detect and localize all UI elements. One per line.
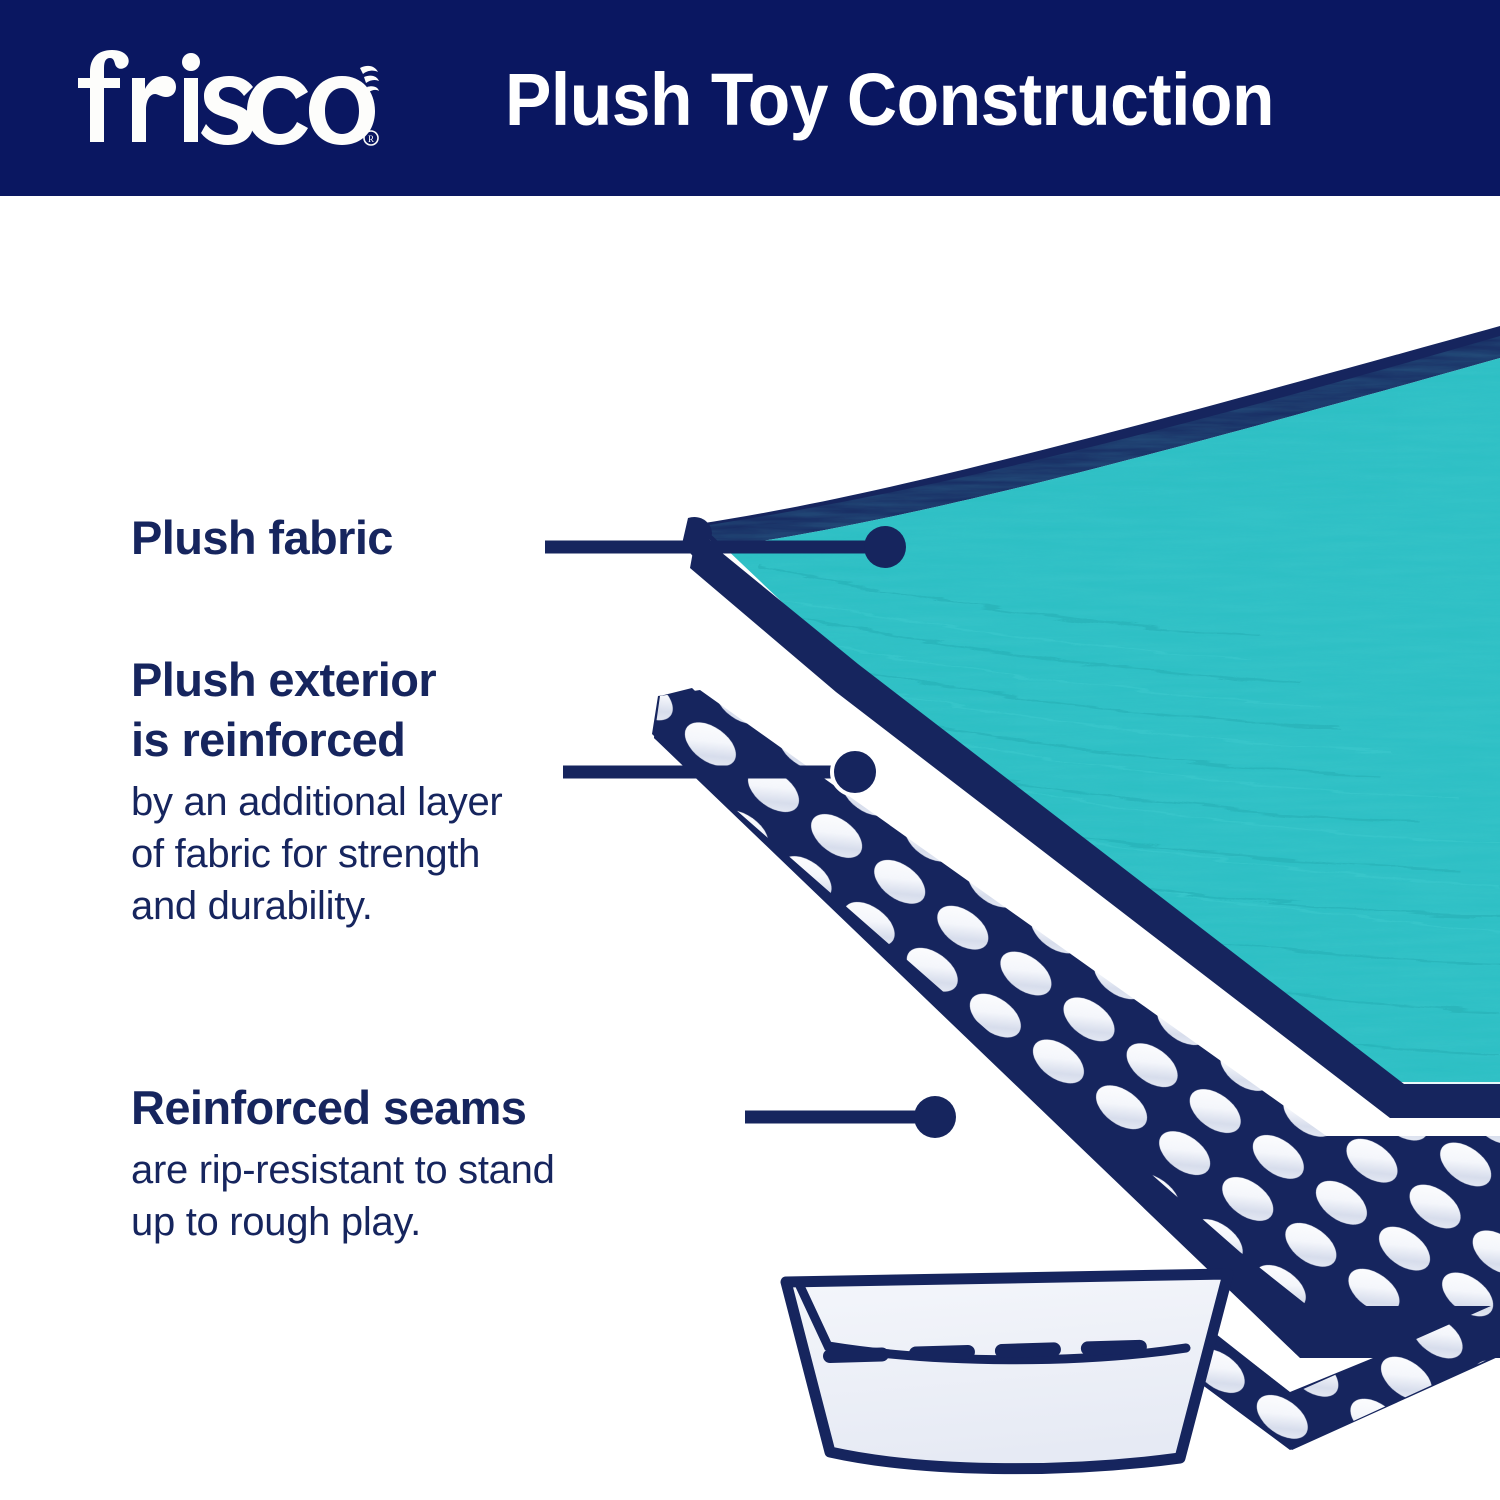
callout-plush-fabric: Plush fabric: [131, 508, 561, 568]
seam-flap: [786, 1274, 1228, 1469]
frisco-logo: R: [72, 46, 382, 156]
callout-heading: Plush exterior is reinforced: [131, 650, 711, 770]
page-title: Plush Toy Construction: [505, 52, 1351, 148]
frisco-logo-icon: R: [72, 46, 382, 156]
callout-heading: Reinforced seams: [131, 1078, 791, 1138]
registered-trademark-icon: R: [364, 131, 378, 145]
callout-body: are rip-resistant to stand up to rough p…: [131, 1144, 791, 1248]
infographic-page: R Plush Toy Construction: [0, 0, 1500, 1500]
callout-plush-exterior-reinforced: Plush exterior is reinforced by an addit…: [131, 650, 711, 932]
callout-reinforced-seams: Reinforced seams are rip-resistant to st…: [131, 1078, 791, 1248]
svg-text:R: R: [368, 134, 374, 144]
callout-heading: Plush fabric: [131, 508, 561, 568]
header-bar: R Plush Toy Construction: [0, 0, 1500, 196]
stitch-dashed-line: [830, 1346, 1170, 1356]
callout-body: by an additional layer of fabric for str…: [131, 776, 711, 932]
